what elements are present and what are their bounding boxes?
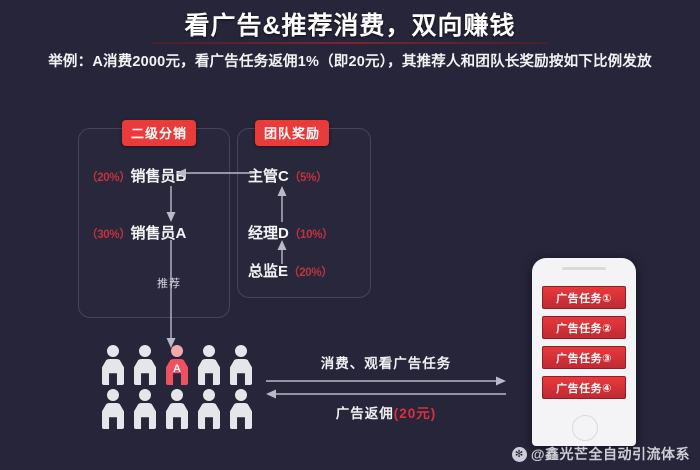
node-sales-b: （20%）销售员B: [86, 165, 186, 186]
phone-home-button[interactable]: [572, 415, 598, 441]
person-icon: [100, 389, 126, 429]
node-manager-d-percent: （10%）: [289, 229, 334, 241]
node-manager-c-percent: （5%）: [289, 172, 327, 184]
person-head: [203, 345, 215, 357]
node-director-e: 总监E（20%）: [248, 260, 333, 281]
flow-backward-text: 广告返佣: [336, 406, 394, 421]
person-icon: [132, 345, 158, 385]
page-subtitle: 举例：A消费2000元，看广告任务返佣1%（即20元），其推荐人和团队长奖励按如…: [0, 50, 700, 71]
ad-task-button-1[interactable]: 广告任务①: [542, 286, 626, 309]
arrow-b-to-a: [164, 186, 178, 222]
person-icon: [228, 389, 254, 429]
person-body: [230, 359, 252, 385]
person-body: [230, 403, 252, 429]
person-a-tag: A: [164, 363, 190, 375]
person-icon: [196, 389, 222, 429]
person-head: [171, 345, 183, 357]
flow-backward-label: 广告返佣(20元): [266, 402, 506, 422]
arrow-d-to-c: [275, 186, 289, 222]
person-body: [166, 403, 188, 429]
person-body: [134, 403, 156, 429]
node-manager-c: 主管C（5%）: [248, 165, 327, 186]
phone-statusbar: [532, 258, 636, 280]
node-sales-b-percent: （20%）: [86, 172, 131, 184]
ad-task-button-4[interactable]: 广告任务④: [542, 376, 626, 399]
node-director-e-percent: （20%）: [288, 267, 333, 279]
person-head: [139, 389, 151, 401]
phone-speaker-icon: [562, 267, 606, 270]
person-head: [235, 345, 247, 357]
node-sales-a-percent: （30%）: [86, 229, 131, 241]
person-icon-a: A: [164, 345, 190, 385]
node-director-e-label: 总监E: [248, 263, 288, 280]
person-head: [139, 345, 151, 357]
people-row: [100, 389, 260, 429]
ad-task-button-2[interactable]: 广告任务②: [542, 316, 626, 339]
paw-icon: ✻: [512, 447, 527, 462]
person-icon: [164, 389, 190, 429]
person-body: [134, 359, 156, 385]
person-icon: [132, 389, 158, 429]
person-body: [102, 359, 124, 385]
person-head: [203, 389, 215, 401]
watermark-text: @鑫光芒全自动引流体系: [531, 444, 690, 464]
node-manager-c-label: 主管C: [248, 168, 289, 185]
arrow-e-to-d: [275, 240, 289, 264]
infographic-canvas: 看广告&推荐消费，双向赚钱 举例：A消费2000元，看广告任务返佣1%（即20元…: [0, 0, 700, 470]
title-divider: [152, 42, 548, 44]
person-body: [102, 403, 124, 429]
phone-mockup: 广告任务① 广告任务② 广告任务③ 广告任务④: [532, 258, 636, 446]
flow-exchange-group: 消费、观看广告任务 广告返佣(20元): [266, 352, 506, 422]
person-icon: [100, 345, 126, 385]
badge-secondary-distribution: 二级分销: [122, 120, 196, 146]
person-head: [107, 389, 119, 401]
person-icon: [228, 345, 254, 385]
ad-task-button-3[interactable]: 广告任务③: [542, 346, 626, 369]
watermark: ✻ @鑫光芒全自动引流体系: [512, 444, 690, 464]
person-head: [171, 389, 183, 401]
phone-screen: 广告任务① 广告任务② 广告任务③ 广告任务④: [542, 286, 626, 399]
flow-forward-label: 消费、观看广告任务: [266, 352, 506, 372]
people-group: A: [100, 345, 260, 429]
flow-arrow-backward: [266, 385, 506, 403]
node-manager-d: 经理D（10%）: [248, 222, 333, 243]
page-title: 看广告&推荐消费，双向赚钱: [0, 6, 700, 42]
badge-team-reward: 团队奖励: [255, 120, 329, 146]
person-body: [198, 403, 220, 429]
arrow-c-to-b: [176, 166, 254, 180]
person-body: [198, 359, 220, 385]
flow-backward-amount: (20元): [394, 406, 437, 421]
people-row: A: [100, 345, 260, 385]
person-head: [107, 345, 119, 357]
arrow-refer-to-person-a: [164, 240, 178, 348]
person-icon: [196, 345, 222, 385]
person-head: [235, 389, 247, 401]
